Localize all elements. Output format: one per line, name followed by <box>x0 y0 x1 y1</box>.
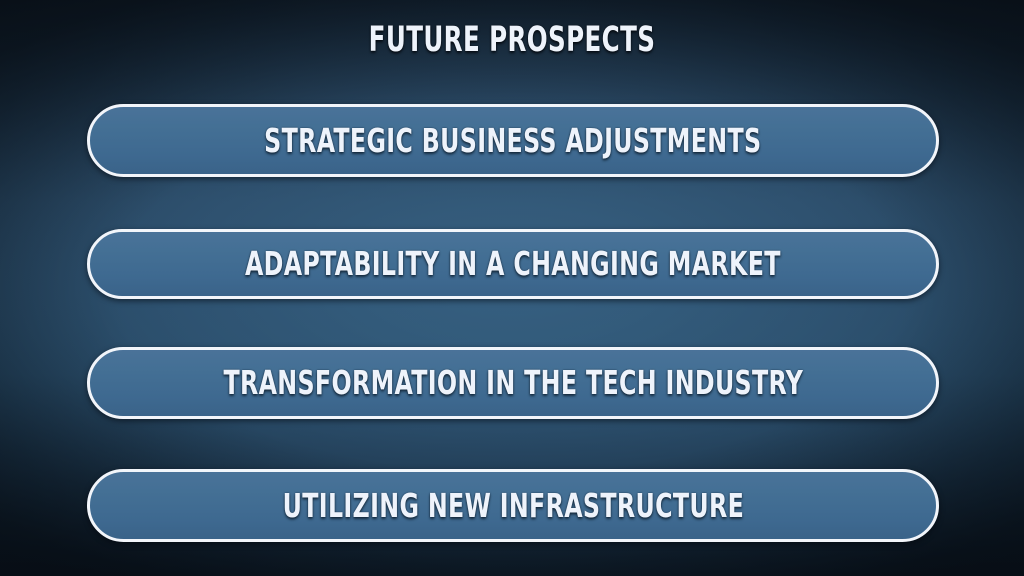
bullet-pill-1[interactable]: STRATEGIC BUSINESS ADJUSTMENTS <box>87 104 939 177</box>
page-title: FUTURE PROSPECTS <box>113 18 912 62</box>
bullet-pill-3[interactable]: TRANSFORMATION IN THE TECH INDUSTRY <box>87 347 939 419</box>
bullet-pill-2-label: ADAPTABILITY IN A CHANGING MARKET <box>245 247 781 281</box>
slide-canvas: FUTURE PROSPECTS STRATEGIC BUSINESS ADJU… <box>0 0 1024 576</box>
bullet-pill-3-label: TRANSFORMATION IN THE TECH INDUSTRY <box>223 366 803 400</box>
bullet-pill-1-label: STRATEGIC BUSINESS ADJUSTMENTS <box>264 124 761 158</box>
bullet-pill-list: STRATEGIC BUSINESS ADJUSTMENTS ADAPTABIL… <box>87 104 939 542</box>
bullet-pill-2[interactable]: ADAPTABILITY IN A CHANGING MARKET <box>87 229 939 299</box>
bullet-pill-4-label: UTILIZING NEW INFRASTRUCTURE <box>282 489 743 523</box>
bullet-pill-4[interactable]: UTILIZING NEW INFRASTRUCTURE <box>87 469 939 542</box>
